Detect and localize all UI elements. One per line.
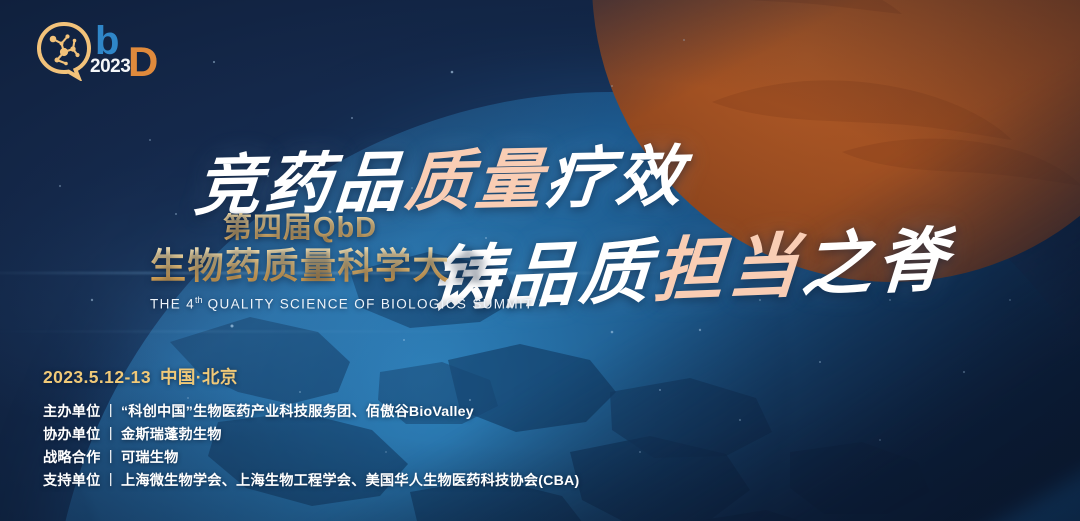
title-english-ordinal: th [195, 295, 203, 305]
co-organizer-line: 协办单位丨金斯瑞蓬勃生物 [43, 424, 579, 447]
calligraphy-line-2-highlight: 担当 [651, 224, 805, 313]
strategic-partner-label: 战略合作 [43, 450, 101, 466]
conference-title-block: 第四届QbD 生物药质量科学大会 THE 4th QUALITY SCIENCE… [150, 213, 450, 312]
supporter-line: 支持单位丨上海微生物学会、上海生物工程学会、美国华人生物医药科技协会(CBA) [43, 470, 579, 493]
event-date: 2023.5.12-13 [43, 367, 151, 387]
supporter-value: 上海微生物学会、上海生物工程学会、美国华人生物医药科技协会(CBA) [121, 473, 579, 489]
calligraphy-line-2-part2: 之脊 [799, 218, 953, 307]
conference-edition: 第四届QbD [150, 213, 450, 244]
supporter-label: 支持单位 [43, 473, 101, 489]
event-location: 中国·北京 [160, 367, 238, 387]
co-organizer-value: 金斯瑞蓬勃生物 [121, 427, 222, 443]
event-date-location: 2023.5.12-13中国·北京 [43, 364, 579, 389]
strategic-partner-line: 战略合作丨可瑞生物 [43, 447, 579, 470]
conference-banner: b D 2023 竞药品质量疗效 铸品质担当之脊 第四届QbD 生物药质量科学大… [0, 0, 1080, 521]
conference-title-english: THE 4th QUALITY SCIENCE OF BIOLOGICS SUM… [150, 295, 450, 312]
event-info-block: 2023.5.12-13中国·北京 主办单位丨“科创中国”生物医药产业科技服务团… [43, 364, 579, 493]
speech-bubble-molecule-icon [33, 19, 95, 81]
title-english-post: QUALITY SCIENCE OF BIOLOGICS SUMMIT [203, 297, 534, 312]
calligraphy-line-1-part2: 疗效 [543, 137, 690, 218]
logo-letter-b: b [95, 21, 118, 61]
qbd-logo[interactable]: b D 2023 [33, 19, 173, 85]
strategic-partner-value: 可瑞生物 [121, 450, 179, 466]
calligraphy-line-1-highlight: 质量 [402, 140, 549, 221]
organizer-separator: 丨 [101, 404, 121, 420]
organizer-label: 主办单位 [43, 404, 101, 420]
co-organizer-separator: 丨 [101, 427, 121, 443]
title-english-pre: THE 4 [150, 297, 195, 312]
conference-title: 生物药质量科学大会 [150, 247, 450, 286]
co-organizer-label: 协办单位 [43, 427, 101, 443]
organizer-line: 主办单位丨“科创中国”生物医药产业科技服务团、佰傲谷BioValley [43, 401, 579, 424]
supporter-separator: 丨 [101, 473, 121, 489]
logo-year: 2023 [90, 57, 130, 76]
strategic-partner-separator: 丨 [101, 450, 121, 466]
organizer-value: “科创中国”生物医药产业科技服务团、佰傲谷BioValley [121, 404, 474, 420]
logo-letter-d: D [128, 41, 157, 83]
